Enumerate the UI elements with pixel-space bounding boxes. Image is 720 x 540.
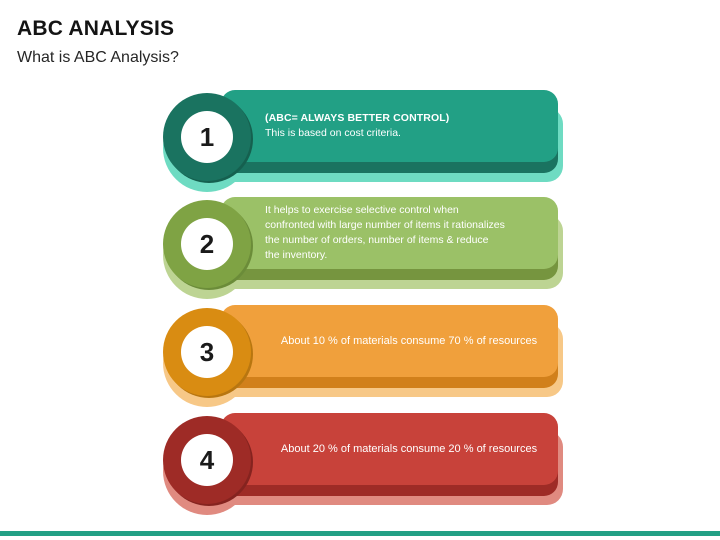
banner-item[interactable]: 4About 20 % of materials consume 20 % of… — [163, 413, 563, 513]
slide-canvas: ABC ANALYSIS What is ABC Analysis? 1(ABC… — [0, 0, 720, 540]
circle-number-disc: 3 — [181, 326, 233, 378]
circle-number: 4 — [200, 447, 214, 473]
banner-text-line: About 20 % of materials consume 20 % of … — [281, 442, 537, 457]
circle-number: 1 — [200, 124, 214, 150]
footer-accent-strip — [0, 531, 720, 536]
circle-number: 3 — [200, 339, 214, 365]
banner-text-line: confronted with large number of items it… — [265, 218, 553, 233]
banner-text-line: the number of orders, number of items & … — [265, 233, 553, 248]
circle-number-disc: 4 — [181, 434, 233, 486]
banner-item[interactable]: 3About 10 % of materials consume 70 % of… — [163, 305, 563, 405]
banner-item[interactable]: 1(ABC= ALWAYS BETTER CONTROL)This is bas… — [163, 90, 563, 190]
banner-text-line: About 10 % of materials consume 70 % of … — [281, 334, 537, 349]
banner-text: About 20 % of materials consume 20 % of … — [265, 413, 553, 485]
header: ABC ANALYSIS What is ABC Analysis? — [17, 16, 179, 69]
banner-text: (ABC= ALWAYS BETTER CONTROL)This is base… — [265, 90, 553, 162]
page-title: ABC ANALYSIS — [17, 16, 179, 42]
banner-text-line: It helps to exercise selective control w… — [265, 203, 553, 218]
banner-text-line: the inventory. — [265, 248, 553, 263]
banner-text: It helps to exercise selective control w… — [265, 197, 553, 269]
circle-number-disc: 2 — [181, 218, 233, 270]
circle-number: 2 — [200, 231, 214, 257]
banner-item[interactable]: 2It helps to exercise selective control … — [163, 197, 563, 297]
page-subtitle: What is ABC Analysis? — [17, 47, 179, 69]
banner-text-line: This is based on cost criteria. — [265, 126, 553, 141]
banner-text-line: (ABC= ALWAYS BETTER CONTROL) — [265, 111, 553, 126]
circle-number-disc: 1 — [181, 111, 233, 163]
banner-text: About 10 % of materials consume 70 % of … — [265, 305, 553, 377]
